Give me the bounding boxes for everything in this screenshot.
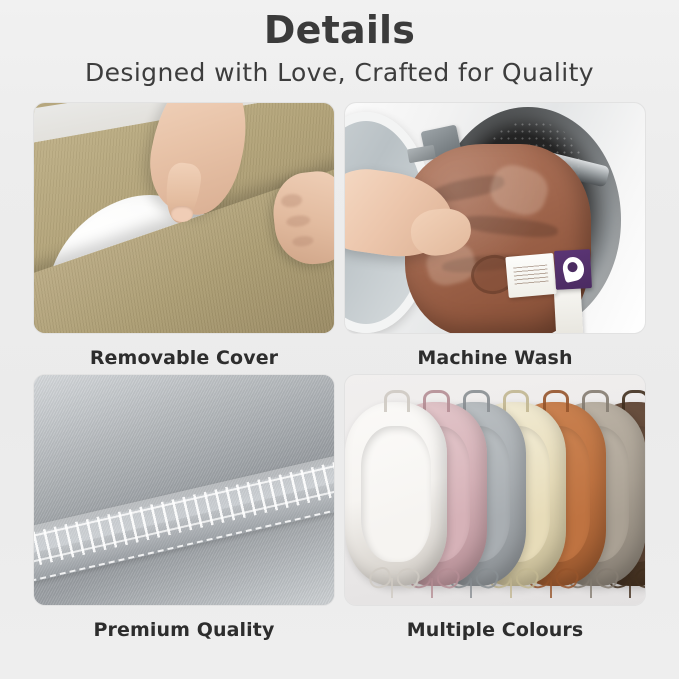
knuckle-crease [286, 214, 310, 227]
nest-carry-handle [423, 390, 450, 412]
feature-grid: Removable Cover [33, 102, 646, 646]
bow-loop-right [553, 565, 580, 591]
bow-loop-right [514, 565, 541, 591]
bow-knot [550, 578, 556, 599]
colour-variant-row [345, 402, 645, 586]
care-instruction-label [505, 253, 556, 298]
nest-carry-handle [622, 390, 645, 412]
feature-cell-premium-quality: Premium Quality [33, 374, 335, 646]
page-title: Details [0, 8, 679, 53]
feature-cell-removable-cover: Removable Cover [33, 102, 335, 374]
page-subtitle: Designed with Love, Crafted for Quality [0, 58, 679, 88]
feature-cell-multiple-colours: Multiple Colours [344, 374, 646, 646]
fabric-fold [460, 213, 558, 240]
purple-brand-tag [554, 249, 592, 290]
nest-carry-handle [582, 390, 609, 412]
feature-caption-machine-wash: Machine Wash [417, 348, 572, 369]
feature-image-machine-wash [344, 102, 646, 334]
bow-loop-right [593, 565, 620, 591]
knuckle-crease [291, 234, 314, 246]
knuckle-crease [281, 193, 303, 208]
colour-variant-white [345, 402, 447, 586]
feature-caption-premium-quality: Premium Quality [94, 620, 275, 641]
bow-knot [629, 578, 635, 599]
feature-caption-multiple-colours: Multiple Colours [407, 620, 584, 641]
feature-image-premium-quality [33, 374, 335, 606]
nest-carry-handle [543, 390, 570, 412]
bow-knot [391, 578, 397, 599]
bow-loop-right [394, 565, 421, 591]
nest-ribbon-bow [369, 568, 418, 601]
feature-image-removable-cover [33, 102, 335, 334]
photo-machine-wash [345, 103, 645, 333]
bow-loop-right [434, 565, 461, 591]
bow-knot [470, 578, 476, 599]
nest-carry-handle [463, 390, 490, 412]
page-header: Details Designed with Love, Crafted for … [0, 0, 679, 88]
feature-image-multiple-colours [344, 374, 646, 606]
bow-loop-left [367, 565, 394, 591]
details-feature-page: Details Designed with Love, Crafted for … [0, 0, 679, 679]
bow-knot [590, 578, 596, 599]
nest-carry-handle [503, 390, 530, 412]
bow-loop-right [474, 565, 501, 591]
nest-mattress [361, 426, 430, 562]
nest-carry-handle [384, 390, 411, 412]
bow-knot [510, 578, 516, 599]
brand-logo-icon [560, 255, 586, 283]
hanging-tag-strip [554, 286, 584, 333]
photo-multiple-colours [345, 375, 645, 605]
fabric-highlight [485, 160, 552, 221]
feature-caption-removable-cover: Removable Cover [90, 348, 278, 369]
photo-premium-quality [34, 375, 334, 605]
bow-knot [431, 578, 437, 599]
photo-removable-cover [34, 103, 334, 333]
feature-cell-machine-wash: Machine Wash [344, 102, 646, 374]
